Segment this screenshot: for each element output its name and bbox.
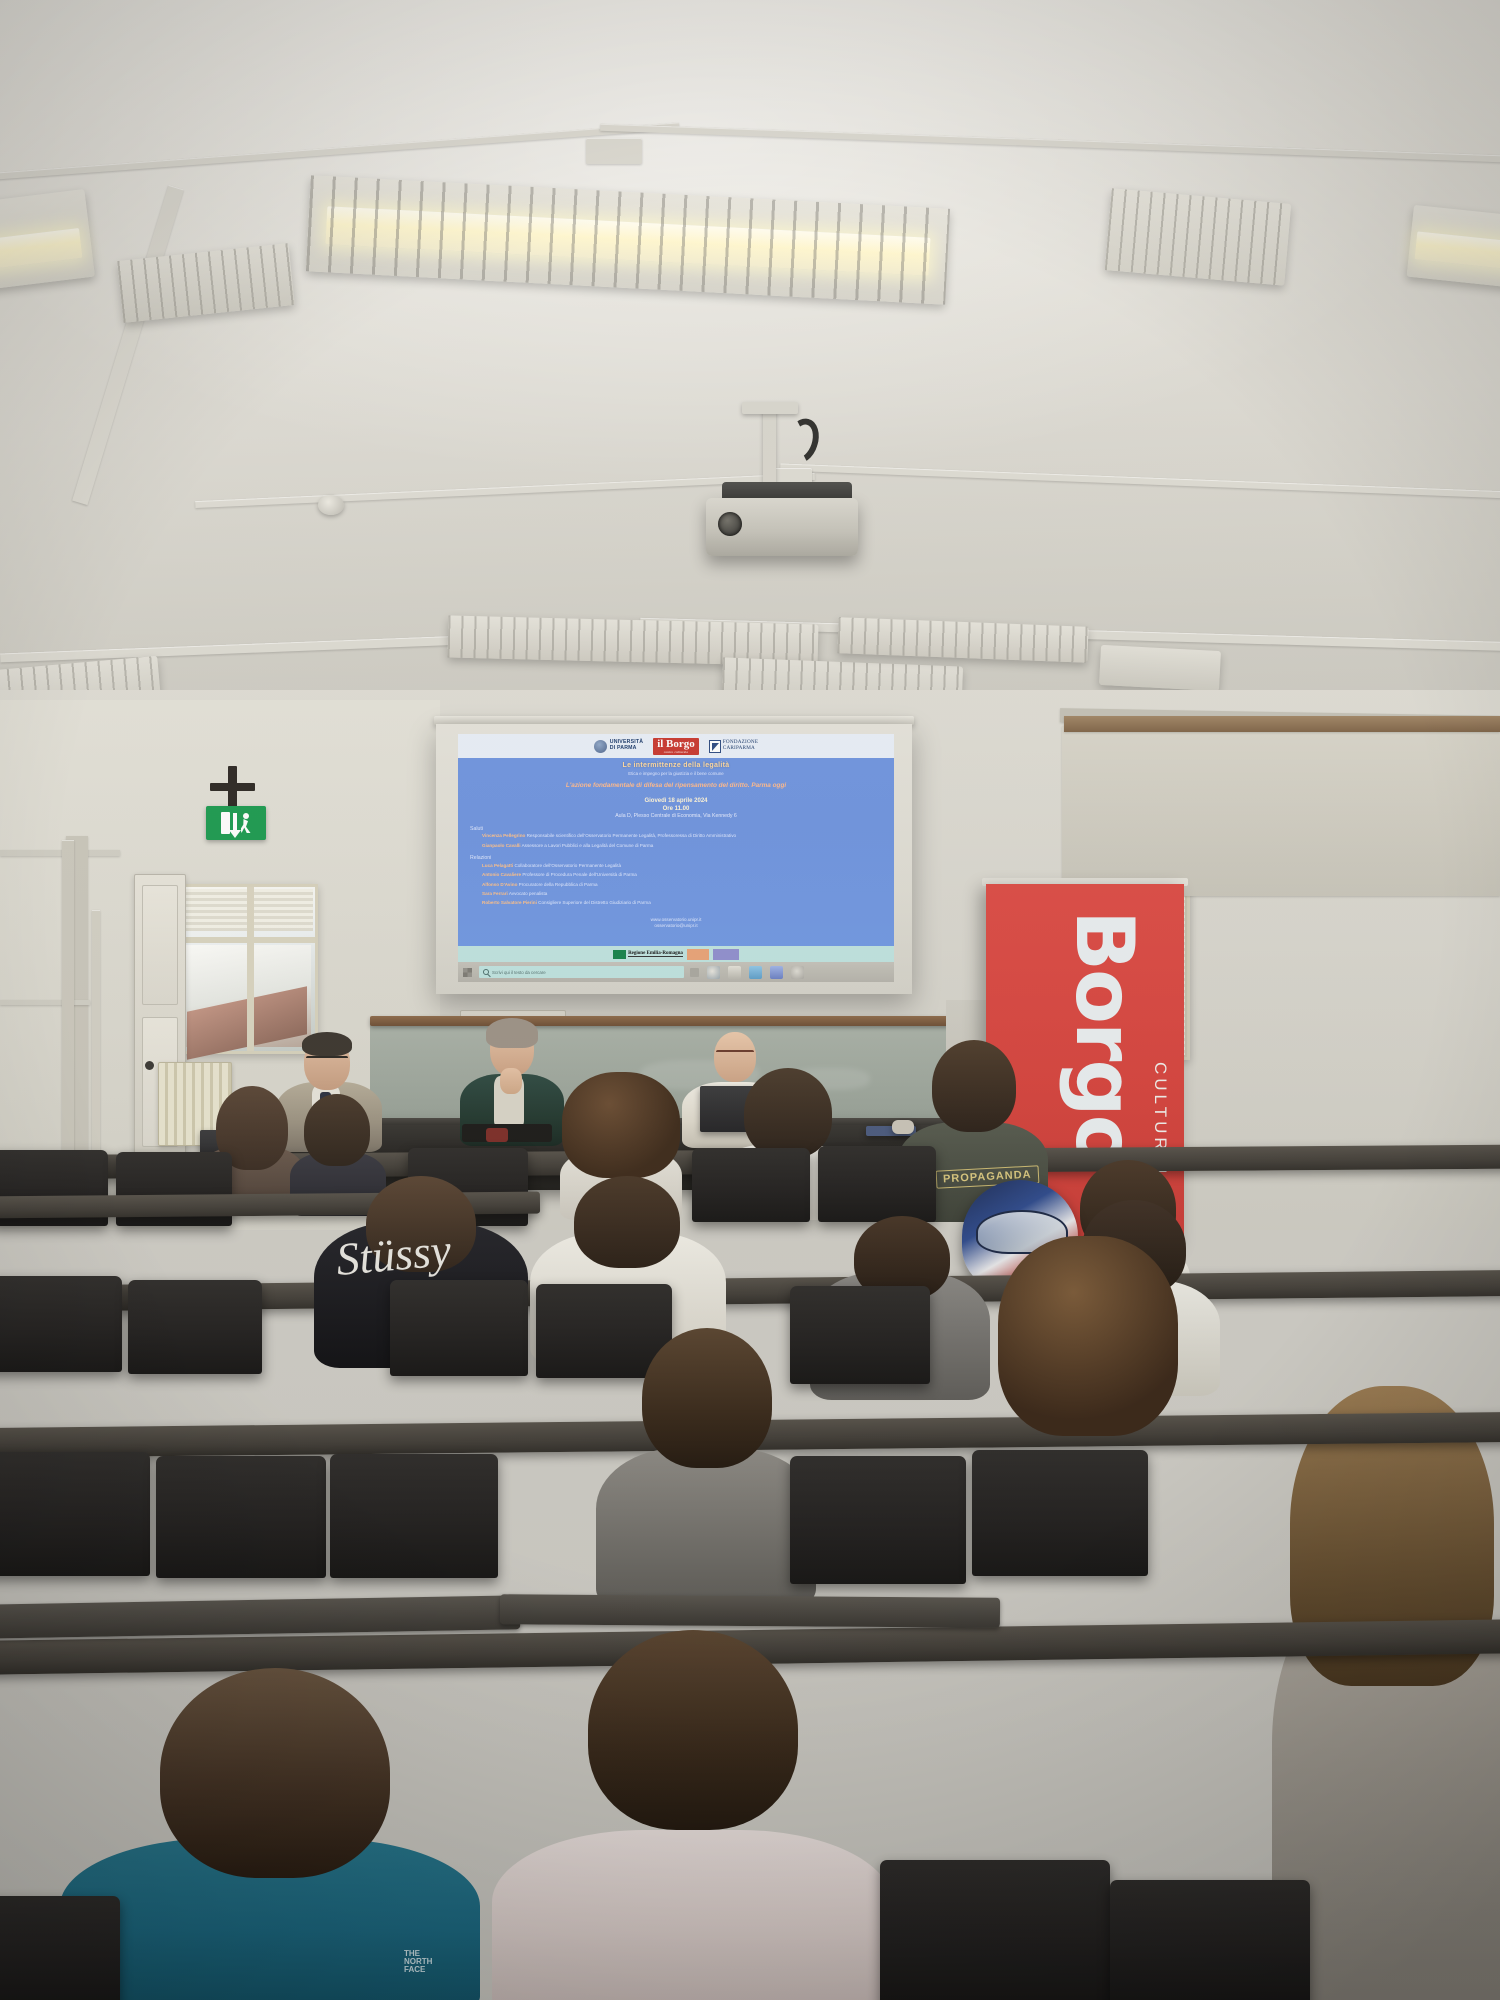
slide-speaker-item: Alfonso D'Avino Procuratore della Repubb… (458, 882, 894, 888)
footer-sponsor-2 (713, 949, 739, 960)
crucifix-horizontal (210, 783, 255, 791)
slide-logo-bar: UNIVERSITÀ DI PARMA il Borgo centro cult… (458, 734, 894, 758)
slide-speaker-item: Vincenza Pellegrino Responsabile scienti… (458, 833, 894, 839)
slide-email: osservatorio@unipr.it (458, 923, 894, 929)
edge-icon[interactable] (707, 966, 720, 979)
audience-hair (574, 1176, 680, 1268)
speaker-hair (302, 1032, 352, 1056)
il-borgo-subtitle: centro culturale (657, 750, 695, 754)
tnf-line3: FACE (404, 1966, 432, 1974)
stussy-shirt-text: Stüssy (334, 1223, 453, 1286)
speaker-name: Roberto Salvatore Pierini (482, 900, 537, 905)
audience-hair (744, 1068, 832, 1158)
lecture-seat[interactable] (790, 1456, 966, 1584)
speaker-role: Professore di Procedura Penale dell'Univ… (522, 872, 637, 877)
speaker-role: Procuratore della Repubblica di Parma (519, 882, 598, 887)
speaker-name: Antonio Cavaliere (482, 872, 521, 877)
speaker-role: Responsabile scientifico dell'Osservator… (527, 833, 736, 838)
lecture-seat-foreground[interactable] (880, 1860, 1110, 2000)
slide-section-label-saluti: Saluti (458, 826, 894, 834)
lecture-seat[interactable] (156, 1456, 326, 1578)
microphone-base (486, 1128, 508, 1142)
slide-title-secondary: L'azione fondamentale di difesa del ripe… (458, 782, 894, 790)
audience-member-curly-2 (998, 1236, 1178, 1456)
exit-arrow-icon (233, 813, 237, 833)
banner-word-borgo: Borgo (1064, 910, 1144, 1168)
lecture-seat[interactable] (330, 1454, 498, 1578)
audience-hair (932, 1040, 1016, 1132)
fondazione-cariparma-logo: FONDAZIONE CARIPARMA (709, 740, 758, 753)
speaker-name: Sara Ferrari (482, 891, 508, 896)
il-borgo-logo: il Borgo centro culturale (653, 738, 699, 755)
projection-screen: UNIVERSITÀ DI PARMA il Borgo centro cult… (436, 724, 912, 994)
ceiling-light-fixture-right-1 (1105, 188, 1291, 285)
speaker-glasses (306, 1056, 348, 1061)
slide-speaker-item: Luca Pelagatti Collaboratore dell'Osserv… (458, 863, 894, 869)
wall-pipe-left-2 (92, 910, 100, 1170)
projected-desktop: UNIVERSITÀ DI PARMA il Borgo centro cult… (458, 734, 894, 982)
door-handle[interactable] (145, 1061, 154, 1070)
unipr-seal-icon (594, 740, 607, 753)
search-icon (483, 969, 489, 975)
lecture-seat[interactable] (128, 1280, 262, 1374)
cariparma-mark-icon (709, 740, 721, 753)
ceiling-light-fixture-left-1 (0, 189, 95, 291)
speaker-name: Alfonso D'Avino (482, 882, 517, 887)
audience-torso (596, 1448, 816, 1608)
seat-back-rail (500, 1594, 1000, 1627)
slide-footer-bar: Regione Emilia-Romagna (458, 946, 894, 962)
slide-speaker-item: Roberto Salvatore Pierini Consigliere Su… (458, 900, 894, 906)
exit-running-man-icon (240, 813, 252, 833)
ceiling-light-fixture-right-edge (1099, 645, 1221, 691)
speaker-name: Gianpaolo Cavalli (482, 843, 521, 848)
slide-date: Giovedì 18 aprile 2024 (458, 797, 894, 805)
slide-place: Aula D, Plesso Centrale di Economia, Via… (458, 813, 894, 820)
speaker-role: Assessore a Lavori Pubblici e alla Legal… (522, 843, 654, 848)
chalkboard-top-frame (370, 1016, 950, 1026)
audience-hair-curly (998, 1236, 1178, 1436)
window (178, 884, 318, 1054)
ceiling-junction-box (586, 138, 642, 164)
speaker-name: Vincenza Pellegrino (482, 833, 525, 838)
right-wall-panel (1062, 726, 1500, 896)
projector-lens-icon (718, 512, 742, 536)
audience-member-front-hoodie (492, 1760, 892, 2000)
speaker-woman-center (460, 1018, 570, 1138)
slide-title: Le intermittenze della legalità (458, 762, 894, 771)
teams-icon[interactable] (770, 966, 783, 979)
slide-speaker-item: Gianpaolo Cavalli Assessore a Lavori Pub… (458, 843, 894, 849)
window-mullion-horizontal (181, 937, 315, 943)
lecture-seat-foreground[interactable] (1110, 1880, 1310, 2000)
regione-emilia-romagna-logo: Regione Emilia-Romagna (613, 950, 683, 959)
right-wall-wood-trim (1064, 716, 1500, 732)
speaker-role: Collaboratore dell'Osservatorio Permanen… (514, 863, 621, 868)
seat-back-rail (0, 1595, 520, 1638)
projector-mount-plate (742, 402, 798, 414)
wall-pipe-left (62, 840, 74, 1170)
slide-time: Ore 11.00 (458, 805, 894, 813)
rer-mark-icon (613, 950, 626, 959)
speaker-hands-clasped (500, 1068, 522, 1094)
settings-icon[interactable] (791, 966, 804, 979)
north-face-logo-text: THE NORTH FACE (404, 1950, 432, 1974)
emergency-exit-sign (206, 806, 266, 840)
windows-taskbar[interactable]: Scrivi qui il testo da cercare (458, 962, 894, 982)
speaker-glasses (716, 1050, 754, 1055)
audience-member-front-center (596, 1328, 816, 1588)
wall-panel-divider (0, 1000, 90, 1005)
wall-trim-horizontal (0, 850, 120, 856)
lecture-seat[interactable] (972, 1450, 1148, 1576)
lecture-hall-photo: UNIVERSITÀ DI PARMA il Borgo centro cult… (0, 0, 1500, 2000)
audience-hair (588, 1630, 798, 1830)
lecture-seat[interactable] (0, 1452, 150, 1576)
task-view-icon[interactable] (690, 968, 699, 977)
search-placeholder: Scrivi qui il testo da cercare (492, 970, 546, 975)
presentation-slide: UNIVERSITÀ DI PARMA il Borgo centro cult… (458, 734, 894, 962)
slide-subtitle: Etica e impegno per la giustizia e il be… (458, 771, 894, 777)
lecture-seat-foreground[interactable] (0, 1896, 120, 2000)
audience-hair (642, 1328, 772, 1468)
cariparma-line2: CARIPARMA (723, 746, 758, 752)
lecture-seat[interactable] (818, 1146, 936, 1222)
lecture-seat[interactable] (0, 1276, 122, 1372)
speaker-role: Consigliere Superiore del Distretto Giud… (538, 900, 651, 905)
unipr-line2: DI PARMA (610, 746, 643, 752)
start-button-icon[interactable] (463, 968, 472, 977)
audience-hair-curly (562, 1072, 680, 1178)
slide-speaker-item: Sara Ferrari Avvocato penalista (458, 891, 894, 897)
search-input[interactable]: Scrivi qui il testo da cercare (479, 966, 684, 978)
slide-speaker-item: Antonio Cavaliere Professore di Procedur… (458, 872, 894, 878)
door-panel-upper (142, 885, 178, 1005)
footer-sponsor-1 (687, 949, 709, 960)
folder-icon[interactable] (728, 966, 741, 979)
speaker-role: Avvocato penalista (509, 891, 547, 896)
il-borgo-text: il Borgo (657, 738, 695, 750)
universita-di-parma-logo: UNIVERSITÀ DI PARMA (594, 740, 643, 753)
speaker-hair (486, 1018, 538, 1048)
speaker-name: Luca Pelagatti (482, 863, 513, 868)
slide-content: Le intermittenze della legalità Etica e … (458, 762, 894, 929)
rer-text: Regione Emilia-Romagna (628, 951, 683, 957)
mail-icon[interactable] (749, 966, 762, 979)
window-mullion-vertical (247, 887, 254, 1051)
lecture-seat[interactable] (390, 1280, 528, 1376)
audience-hair (304, 1094, 370, 1166)
audience-hair (160, 1668, 390, 1878)
audience-torso (492, 1830, 892, 2000)
slide-section-label-relazioni: Relazioni (458, 855, 894, 863)
smoke-detector-icon (318, 495, 344, 515)
